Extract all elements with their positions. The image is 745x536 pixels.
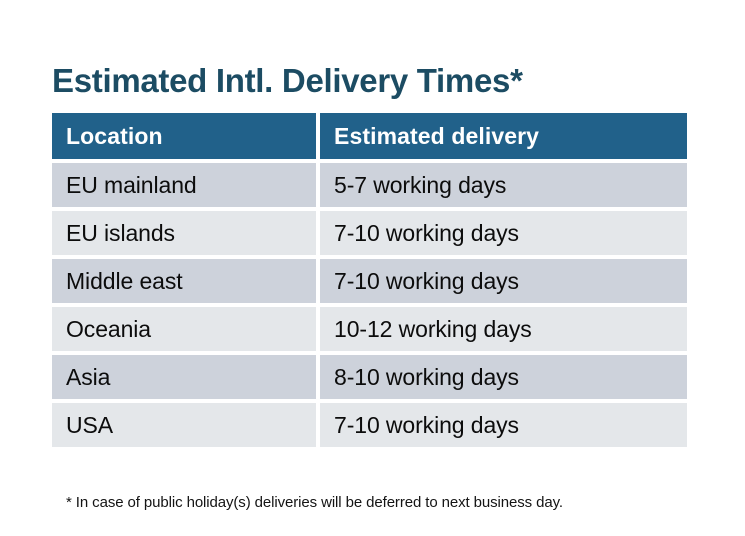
page-title: Estimated Intl. Delivery Times*	[52, 60, 692, 102]
table-row: USA 7-10 working days	[52, 403, 687, 447]
cell-location: Asia	[52, 355, 316, 399]
column-header-location: Location	[52, 113, 316, 159]
table-row: Oceania 10-12 working days	[52, 307, 687, 351]
cell-estimated-delivery: 7-10 working days	[320, 211, 687, 255]
delivery-times-table: Location Estimated delivery EU mainland …	[48, 109, 691, 451]
footnote: * In case of public holiday(s) deliverie…	[66, 493, 706, 513]
table-body: EU mainland 5-7 working days EU islands …	[52, 163, 687, 447]
table-row: EU islands 7-10 working days	[52, 211, 687, 255]
cell-estimated-delivery: 8-10 working days	[320, 355, 687, 399]
cell-estimated-delivery: 7-10 working days	[320, 403, 687, 447]
table-header-row: Location Estimated delivery	[52, 113, 687, 159]
delivery-times-page: Estimated Intl. Delivery Times* Location…	[0, 0, 745, 536]
table-header: Location Estimated delivery	[52, 113, 687, 159]
table-row: Middle east 7-10 working days	[52, 259, 687, 303]
cell-location: Oceania	[52, 307, 316, 351]
table-row: Asia 8-10 working days	[52, 355, 687, 399]
cell-location: USA	[52, 403, 316, 447]
cell-location: EU islands	[52, 211, 316, 255]
cell-location: EU mainland	[52, 163, 316, 207]
cell-estimated-delivery: 10-12 working days	[320, 307, 687, 351]
cell-estimated-delivery: 7-10 working days	[320, 259, 687, 303]
cell-location: Middle east	[52, 259, 316, 303]
cell-estimated-delivery: 5-7 working days	[320, 163, 687, 207]
table-row: EU mainland 5-7 working days	[52, 163, 687, 207]
column-header-estimated-delivery: Estimated delivery	[320, 113, 687, 159]
